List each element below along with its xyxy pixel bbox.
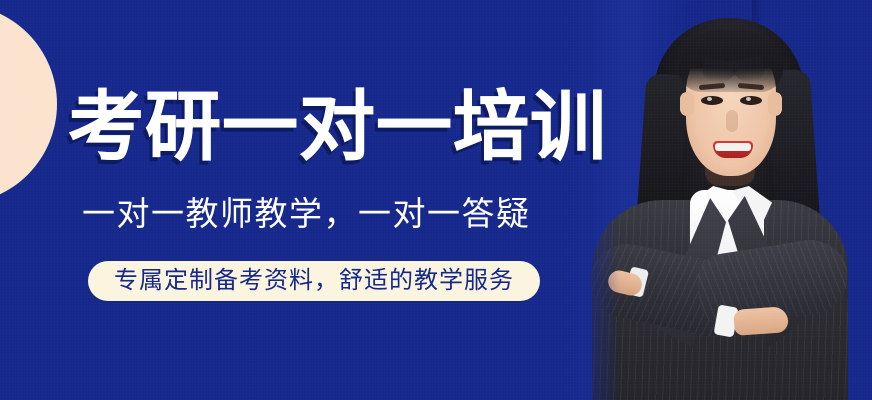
eye-right (740, 96, 762, 105)
subheadline: 一对一教师教学，一对一答疑 (82, 194, 531, 234)
copy-block: 考研一对一培训 一对一教师教学，一对一答疑 专属定制备考资料，舒适的教学服务 (0, 0, 600, 400)
feature-pill-label: 专属定制备考资料，舒适的教学服务 (114, 267, 514, 295)
ear-right (768, 92, 782, 116)
feature-pill: 专属定制备考资料，舒适的教学服务 (88, 261, 540, 301)
eye-highlight-right (746, 97, 751, 101)
instructor-portrait-photo (566, 0, 872, 400)
nose (726, 110, 738, 132)
ear-left (680, 92, 694, 116)
headline: 考研一对一培训 (68, 88, 607, 168)
eye-left (701, 96, 723, 105)
eye-highlight-left (707, 97, 712, 101)
teeth (715, 143, 751, 151)
promo-banner: 考研一对一培训 一对一教师教学，一对一答疑 专属定制备考资料，舒适的教学服务 (0, 0, 872, 400)
hand-left (733, 306, 789, 336)
mouth (713, 141, 753, 158)
